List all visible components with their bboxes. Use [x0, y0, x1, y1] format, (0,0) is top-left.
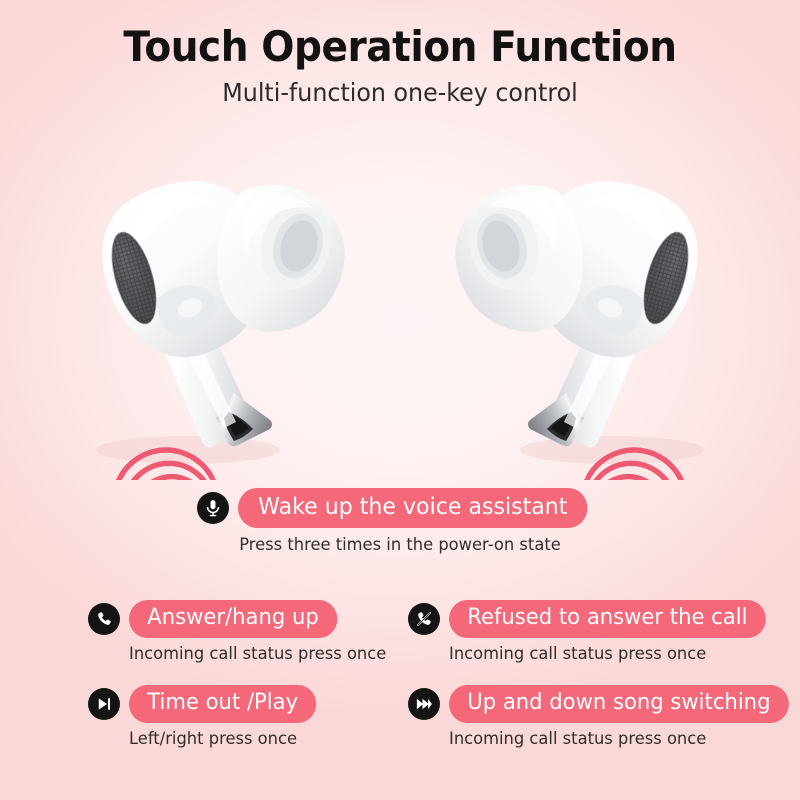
page-subtitle: Multi-function one-key control — [20, 78, 780, 108]
feature-label[interactable]: Refused to answer the call — [449, 600, 766, 638]
microphone-icon — [197, 492, 229, 524]
feature-row: Time out /Play Left/right press once Up … — [88, 685, 728, 749]
feature-header: Up and down song switching — [408, 685, 728, 723]
feature-refuse-call: Refused to answer the call Incoming call… — [408, 600, 728, 664]
feature-header: Answer/hang up — [88, 600, 408, 638]
feature-caption: Incoming call status press once — [129, 644, 397, 664]
feature-label[interactable]: Time out /Play — [129, 685, 316, 723]
header: Touch Operation Function Multi-function … — [0, 0, 800, 108]
voice-assistant-caption: Press three times in the power-on state — [16, 535, 784, 555]
earbud-ear-tip — [455, 185, 582, 332]
voice-assistant-row: Wake up the voice assistant — [197, 488, 602, 528]
earbud-ear-tip — [217, 185, 344, 332]
feature-caption: Incoming call status press once — [449, 644, 717, 664]
feature-song-switching: Up and down song switching Incoming call… — [408, 685, 728, 749]
voice-assistant-label[interactable]: Wake up the voice assistant — [238, 488, 588, 528]
feature-row: Answer/hang up Incoming call status pres… — [88, 600, 728, 664]
earbud-left — [38, 150, 368, 480]
feature-label[interactable]: Up and down song switching — [449, 685, 789, 723]
touch-operation-poster: Touch Operation Function Multi-function … — [0, 0, 800, 800]
earbuds-illustration — [0, 150, 800, 480]
feature-list: Answer/hang up Incoming call status pres… — [88, 600, 728, 749]
feature-label[interactable]: Answer/hang up — [129, 600, 337, 638]
play-pause-icon — [88, 688, 120, 720]
voice-assistant-feature: Wake up the voice assistant Press three … — [0, 488, 800, 555]
feature-caption: Left/right press once — [129, 729, 397, 749]
page-title: Touch Operation Function — [28, 22, 772, 72]
feature-caption: Incoming call status press once — [449, 729, 717, 749]
phone-decline-icon — [408, 603, 440, 635]
earbud-right — [432, 150, 762, 480]
feature-play-pause: Time out /Play Left/right press once — [88, 685, 408, 749]
feature-answer-call: Answer/hang up Incoming call status pres… — [88, 600, 408, 664]
feature-header: Refused to answer the call — [408, 600, 728, 638]
phone-answer-icon — [88, 603, 120, 635]
feature-header: Time out /Play — [88, 685, 408, 723]
fast-forward-icon — [408, 688, 440, 720]
